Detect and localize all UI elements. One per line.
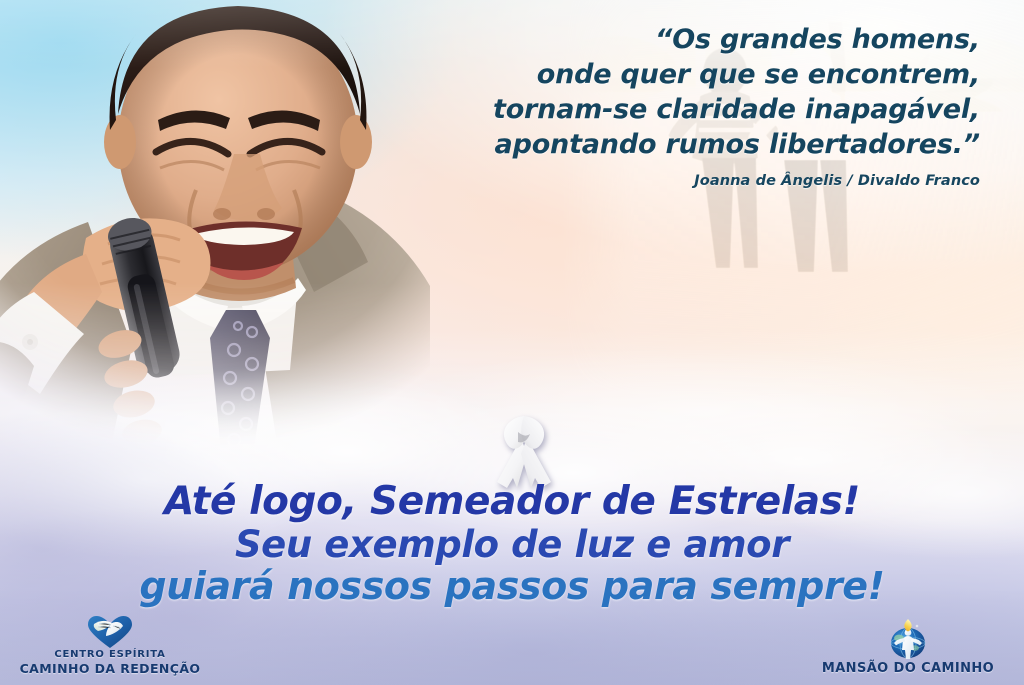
logo-centro-espirita: CENTRO ESPÍRITA CAMINHO DA REDENÇÃO bbox=[10, 615, 210, 677]
headline-block: Até logo, Semeador de Estrelas! Seu exem… bbox=[0, 482, 1024, 605]
headline-line-1: Até logo, Semeador de Estrelas! bbox=[0, 482, 1024, 522]
quote-line-4: apontando rumos libertadores.” bbox=[420, 127, 980, 162]
logo-centro-espirita-line1: CENTRO ESPÍRITA bbox=[54, 649, 165, 662]
white-ribbon-icon bbox=[487, 408, 561, 490]
headline-line-2: Seu exemplo de luz e amor bbox=[0, 526, 1024, 564]
quote-line-1: “Os grandes homens, bbox=[420, 22, 980, 57]
portrait-photo bbox=[0, 0, 470, 462]
headline-line-3: guiará nossos passos para sempre! bbox=[0, 567, 1024, 606]
logo-mansao-do-caminho-label: MANSÃO DO CAMINHO bbox=[822, 661, 994, 677]
quote-block: “Os grandes homens, onde quer que se enc… bbox=[420, 22, 980, 189]
globe-figure-flame-icon bbox=[886, 619, 930, 661]
quote-line-2: onde quer que se encontrem, bbox=[420, 57, 980, 92]
quote-line-3: tornam-se claridade inapagável, bbox=[420, 92, 980, 127]
quote-attribution: Joanna de Ângelis / Divaldo Franco bbox=[420, 173, 980, 189]
heart-hands-icon bbox=[87, 615, 133, 649]
memorial-poster: “Os grandes homens, onde quer que se enc… bbox=[0, 0, 1024, 685]
logo-centro-espirita-line2: CAMINHO DA REDENÇÃO bbox=[20, 661, 201, 677]
logo-mansao-do-caminho: MANSÃO DO CAMINHO bbox=[800, 619, 1016, 677]
